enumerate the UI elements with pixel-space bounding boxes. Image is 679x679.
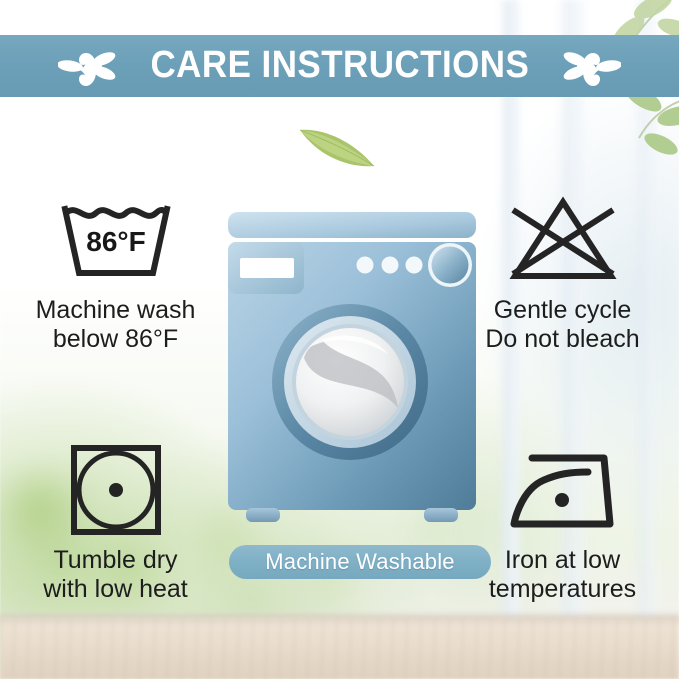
wood-grain-texture — [0, 619, 679, 679]
care-symbol-wash: 86°F Machine wash below 86°F — [8, 192, 223, 353]
tumble-dry-low-icon — [67, 442, 165, 538]
status-badge: Machine Washable — [229, 545, 491, 579]
iron-low-temp-icon — [504, 442, 622, 538]
fleur-de-lis-icon-right — [563, 45, 621, 87]
no-bleach-triangle-icon — [503, 192, 623, 288]
wash-temp-value: 86°F — [86, 226, 145, 257]
washing-machine-illustration — [222, 208, 482, 548]
care-symbol-iron: Iron at low temperatures — [455, 442, 670, 603]
care-label-dry: Tumble dry with low heat — [43, 546, 188, 603]
care-label-wash: Machine wash below 86°F — [36, 296, 196, 353]
green-leaf-icon — [296, 118, 380, 174]
header-banner: CARE INSTRUCTIONS — [0, 35, 679, 97]
care-symbol-dry: Tumble dry with low heat — [8, 442, 223, 603]
care-symbol-bleach: Gentle cycle Do not bleach — [455, 192, 670, 353]
control-dots — [357, 257, 423, 274]
page-title: CARE INSTRUCTIONS — [150, 46, 529, 86]
fleur-de-lis-icon-left — [58, 45, 116, 87]
care-label-iron: Iron at low temperatures — [489, 546, 636, 603]
care-instructions-infographic: CARE INSTRUCTIONS — [0, 0, 679, 679]
wash-tub-icon: 86°F — [55, 192, 177, 288]
care-label-bleach: Gentle cycle Do not bleach — [485, 296, 639, 353]
badge-label: Machine Washable — [265, 551, 454, 573]
